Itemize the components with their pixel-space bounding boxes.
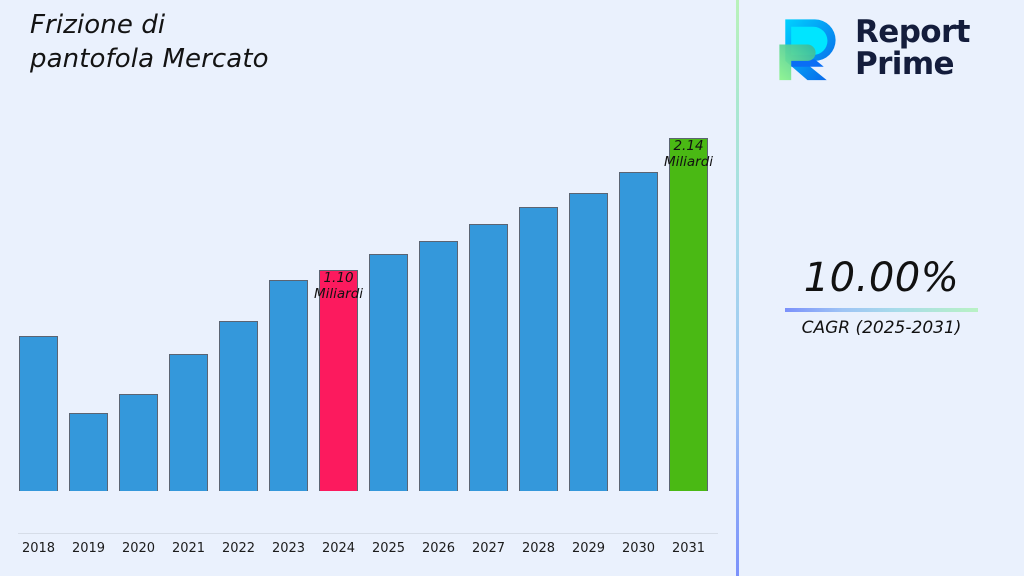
bar-2028[interactable] [519, 207, 558, 491]
bar-2027[interactable] [469, 224, 508, 491]
brand-name-line2: Prime [855, 49, 970, 81]
bar-2024[interactable] [319, 270, 358, 491]
cagr-divider-rule [785, 308, 978, 312]
bar-2031[interactable] [669, 138, 708, 491]
bar-rect-2018[interactable] [19, 336, 58, 491]
bar-rect-2022[interactable] [219, 321, 258, 491]
market-chart-infographic: Frizione di pantofola Mercato 1.10 Milia… [0, 0, 1024, 576]
bar-rect-2026[interactable] [419, 241, 458, 491]
bar-2026[interactable] [419, 241, 458, 491]
bar-2030[interactable] [619, 172, 658, 491]
bar-2023[interactable] [269, 280, 308, 491]
cagr-value: 10.00% [739, 255, 1024, 301]
side-panel: Report Prime 10.00% CAGR (2025-2031) [739, 0, 1024, 576]
bar-chart-plot-area: 1.10 Miliardi2.14 Miliardi [0, 0, 736, 534]
x-axis-tick-2031: 2031 [659, 541, 719, 556]
bar-rect-2024[interactable] [319, 270, 358, 491]
bar-2018[interactable] [19, 336, 58, 491]
brand-logo: Report Prime [769, 12, 970, 86]
bar-2022[interactable] [219, 321, 258, 491]
bar-rect-2028[interactable] [519, 207, 558, 491]
brand-wordmark: Report Prime [855, 17, 970, 80]
bar-rect-2030[interactable] [619, 172, 658, 491]
cagr-caption: CAGR (2025-2031) [739, 318, 1024, 338]
bar-rect-2027[interactable] [469, 224, 508, 491]
bar-2020[interactable] [119, 394, 158, 491]
bar-rect-2019[interactable] [69, 413, 108, 491]
chart-baseline [18, 533, 718, 534]
bar-2025[interactable] [369, 254, 408, 491]
bar-rect-2023[interactable] [269, 280, 308, 491]
cagr-block: 10.00% CAGR (2025-2031) [739, 255, 1024, 338]
bar-rect-2025[interactable] [369, 254, 408, 491]
bar-rect-2020[interactable] [119, 394, 158, 491]
bar-rect-2021[interactable] [169, 354, 208, 491]
bar-rect-2029[interactable] [569, 193, 608, 491]
bar-2021[interactable] [169, 354, 208, 491]
report-prime-logo-mark-icon [769, 12, 843, 86]
chart-panel: Frizione di pantofola Mercato 1.10 Milia… [0, 0, 736, 576]
bar-rect-2031[interactable] [669, 138, 708, 491]
bar-2029[interactable] [569, 193, 608, 491]
brand-name-line1: Report [855, 17, 970, 49]
bar-2019[interactable] [69, 413, 108, 491]
